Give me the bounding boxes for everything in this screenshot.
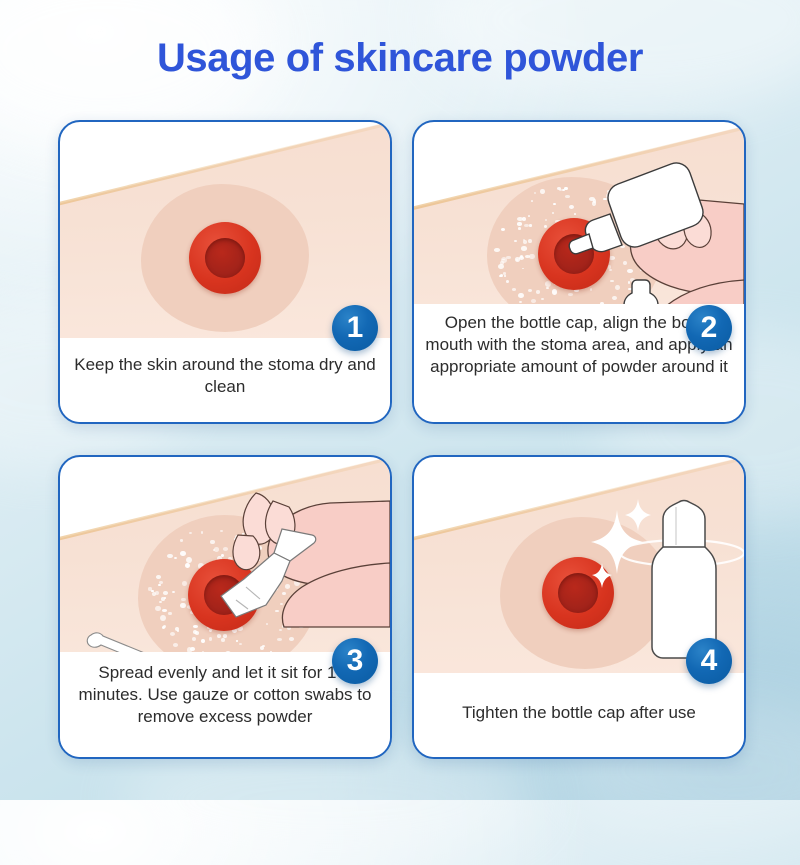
infographic-root: Usage of skincare powder 1 Keep the skin…	[0, 0, 800, 800]
step-number-badge: 2	[686, 305, 732, 351]
stoma-opening-icon	[205, 238, 245, 278]
step-card-4: 4 Tighten the bottle cap after use	[412, 455, 746, 759]
step-card-2: 2 Open the bottle cap, align the bottle …	[412, 120, 746, 424]
step-number-badge: 3	[332, 638, 378, 684]
powder-bottle-icon	[652, 501, 716, 659]
step-card-1: 1 Keep the skin around the stoma dry and…	[58, 120, 392, 424]
step-number-badge: 4	[686, 638, 732, 684]
step-card-3: 3 Spread evenly and let it sit for 1-2 m…	[58, 455, 392, 759]
step-caption: Keep the skin around the stoma dry and c…	[60, 340, 390, 422]
step-number-badge: 1	[332, 305, 378, 351]
step-caption: Tighten the bottle cap after use	[414, 677, 744, 757]
stoma-icon	[189, 222, 261, 294]
page-title: Usage of skincare powder	[0, 36, 800, 81]
